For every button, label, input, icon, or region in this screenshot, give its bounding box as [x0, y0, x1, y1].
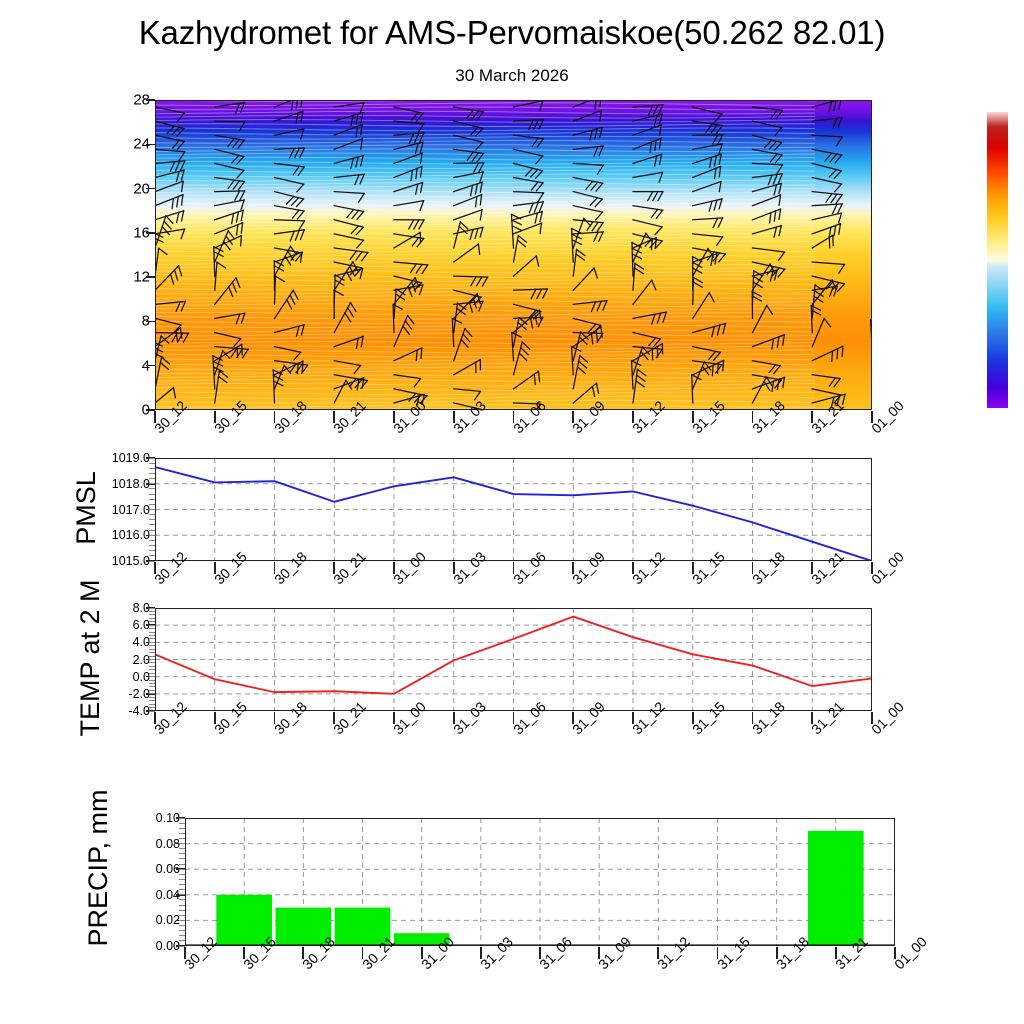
y-minor-tick	[179, 823, 185, 824]
y-minor-tick	[179, 843, 185, 844]
y-tick-label: 24	[80, 136, 150, 153]
y-minor-tick	[149, 656, 155, 657]
y-minor-tick	[149, 659, 155, 660]
y-tick-label: 0.10	[110, 811, 180, 825]
y-tick-mark	[146, 321, 155, 323]
pmsl-panel	[155, 458, 872, 561]
y-tick-label: 0	[80, 402, 150, 419]
y-minor-tick	[149, 519, 155, 520]
precip-panel	[185, 818, 895, 946]
y-minor-tick	[149, 690, 155, 691]
y-minor-tick	[149, 621, 155, 622]
y-minor-tick	[179, 818, 185, 819]
y-tick-label: 0.06	[110, 862, 180, 876]
y-minor-tick	[149, 642, 155, 643]
y-minor-tick	[149, 693, 155, 694]
y-minor-tick	[179, 930, 185, 931]
y-tick-label: 0.0	[80, 670, 150, 684]
y-tick-label: 16	[80, 224, 150, 241]
y-tick-label: 0.04	[110, 888, 180, 902]
pmsl-frame	[155, 458, 872, 561]
y-tick-mark	[146, 276, 155, 278]
y-minor-tick	[149, 628, 155, 629]
y-minor-tick	[149, 645, 155, 646]
y-minor-tick	[149, 555, 155, 556]
y-tick-label: 28	[80, 92, 150, 109]
y-minor-tick	[149, 669, 155, 670]
y-minor-tick	[149, 683, 155, 684]
y-minor-tick	[149, 468, 155, 469]
y-tick-label: 8	[80, 313, 150, 330]
y-minor-tick	[149, 550, 155, 551]
x-tick-label: 01_00	[891, 933, 930, 972]
y-tick-mark	[146, 365, 155, 367]
y-minor-tick	[149, 652, 155, 653]
y-minor-tick	[149, 463, 155, 464]
y-minor-tick	[149, 662, 155, 663]
y-minor-tick	[179, 869, 185, 870]
y-minor-tick	[149, 686, 155, 687]
y-minor-tick	[179, 915, 185, 916]
y-tick-mark	[146, 144, 155, 146]
y-minor-tick	[149, 608, 155, 609]
y-minor-tick	[149, 535, 155, 536]
y-tick-label: 2.0	[80, 653, 150, 667]
y-tick-label: 0.08	[110, 837, 180, 851]
y-minor-tick	[179, 910, 185, 911]
x-tick-label: 01_00	[868, 548, 907, 587]
y-minor-tick	[149, 545, 155, 546]
temp-panel	[155, 608, 872, 711]
y-minor-tick	[149, 632, 155, 633]
y-tick-label: 1018.0	[80, 477, 150, 491]
y-minor-tick	[149, 635, 155, 636]
y-minor-tick	[149, 524, 155, 525]
y-minor-tick	[179, 848, 185, 849]
y-minor-tick	[179, 853, 185, 854]
y-minor-tick	[149, 494, 155, 495]
y-tick-label: 4	[80, 357, 150, 374]
y-minor-tick	[179, 905, 185, 906]
page-title: Kazhydromet for AMS-Pervomaiskoe(50.262 …	[0, 14, 1024, 52]
y-tick-label: 6.0	[80, 618, 150, 632]
y-tick-label: 20	[80, 180, 150, 197]
y-minor-tick	[149, 618, 155, 619]
y-tick-label: -2.0	[80, 687, 150, 701]
y-tick-label: 1019.0	[80, 451, 150, 465]
y-minor-tick	[179, 864, 185, 865]
y-minor-tick	[149, 504, 155, 505]
y-minor-tick	[179, 858, 185, 859]
y-minor-tick	[149, 707, 155, 708]
y-minor-tick	[149, 488, 155, 489]
y-minor-tick	[149, 614, 155, 615]
y-minor-tick	[149, 540, 155, 541]
y-minor-tick	[149, 680, 155, 681]
y-minor-tick	[149, 509, 155, 510]
y-tick-label: 1016.0	[80, 528, 150, 542]
y-minor-tick	[149, 649, 155, 650]
y-tick-label: -4.0	[80, 704, 150, 718]
y-minor-tick	[149, 666, 155, 667]
y-tick-mark	[146, 232, 155, 234]
y-tick-label: 1017.0	[80, 503, 150, 517]
y-minor-tick	[179, 874, 185, 875]
y-minor-tick	[179, 838, 185, 839]
y-minor-tick	[149, 530, 155, 531]
y-minor-tick	[149, 625, 155, 626]
y-minor-tick	[149, 458, 155, 459]
y-minor-tick	[179, 935, 185, 936]
y-tick-label: 8.0	[80, 601, 150, 615]
y-minor-tick	[149, 638, 155, 639]
y-minor-tick	[149, 704, 155, 705]
y-tick-mark	[146, 99, 155, 101]
y-minor-tick	[179, 899, 185, 900]
y-minor-tick	[149, 697, 155, 698]
profile-panel	[155, 100, 872, 410]
y-tick-label: 0.02	[110, 913, 180, 927]
y-minor-tick	[179, 920, 185, 921]
temp-frame	[155, 608, 872, 711]
y-minor-tick	[179, 833, 185, 834]
y-minor-tick	[149, 473, 155, 474]
y-minor-tick	[149, 514, 155, 515]
x-tick-label: 01_00	[868, 397, 907, 436]
y-tick-label: 1015.0	[80, 554, 150, 568]
y-minor-tick	[179, 940, 185, 941]
x-tick-label: 01_00	[868, 698, 907, 737]
precip-frame	[185, 818, 895, 946]
page-subtitle: 30 March 2026	[0, 66, 1024, 86]
y-minor-tick	[149, 499, 155, 500]
y-minor-tick	[179, 925, 185, 926]
y-minor-tick	[179, 889, 185, 890]
y-minor-tick	[179, 884, 185, 885]
y-minor-tick	[179, 894, 185, 895]
y-tick-label: 0.00	[110, 939, 180, 953]
y-minor-tick	[149, 700, 155, 701]
y-tick-label: 12	[80, 269, 150, 286]
y-minor-tick	[179, 879, 185, 880]
y-tick-label: 4.0	[80, 635, 150, 649]
y-minor-tick	[149, 611, 155, 612]
profile-frame	[155, 100, 872, 410]
y-minor-tick	[179, 828, 185, 829]
y-minor-tick	[149, 676, 155, 677]
y-minor-tick	[149, 483, 155, 484]
y-minor-tick	[149, 478, 155, 479]
temperature-colorbar	[987, 112, 1008, 408]
y-tick-mark	[146, 188, 155, 190]
y-minor-tick	[149, 673, 155, 674]
